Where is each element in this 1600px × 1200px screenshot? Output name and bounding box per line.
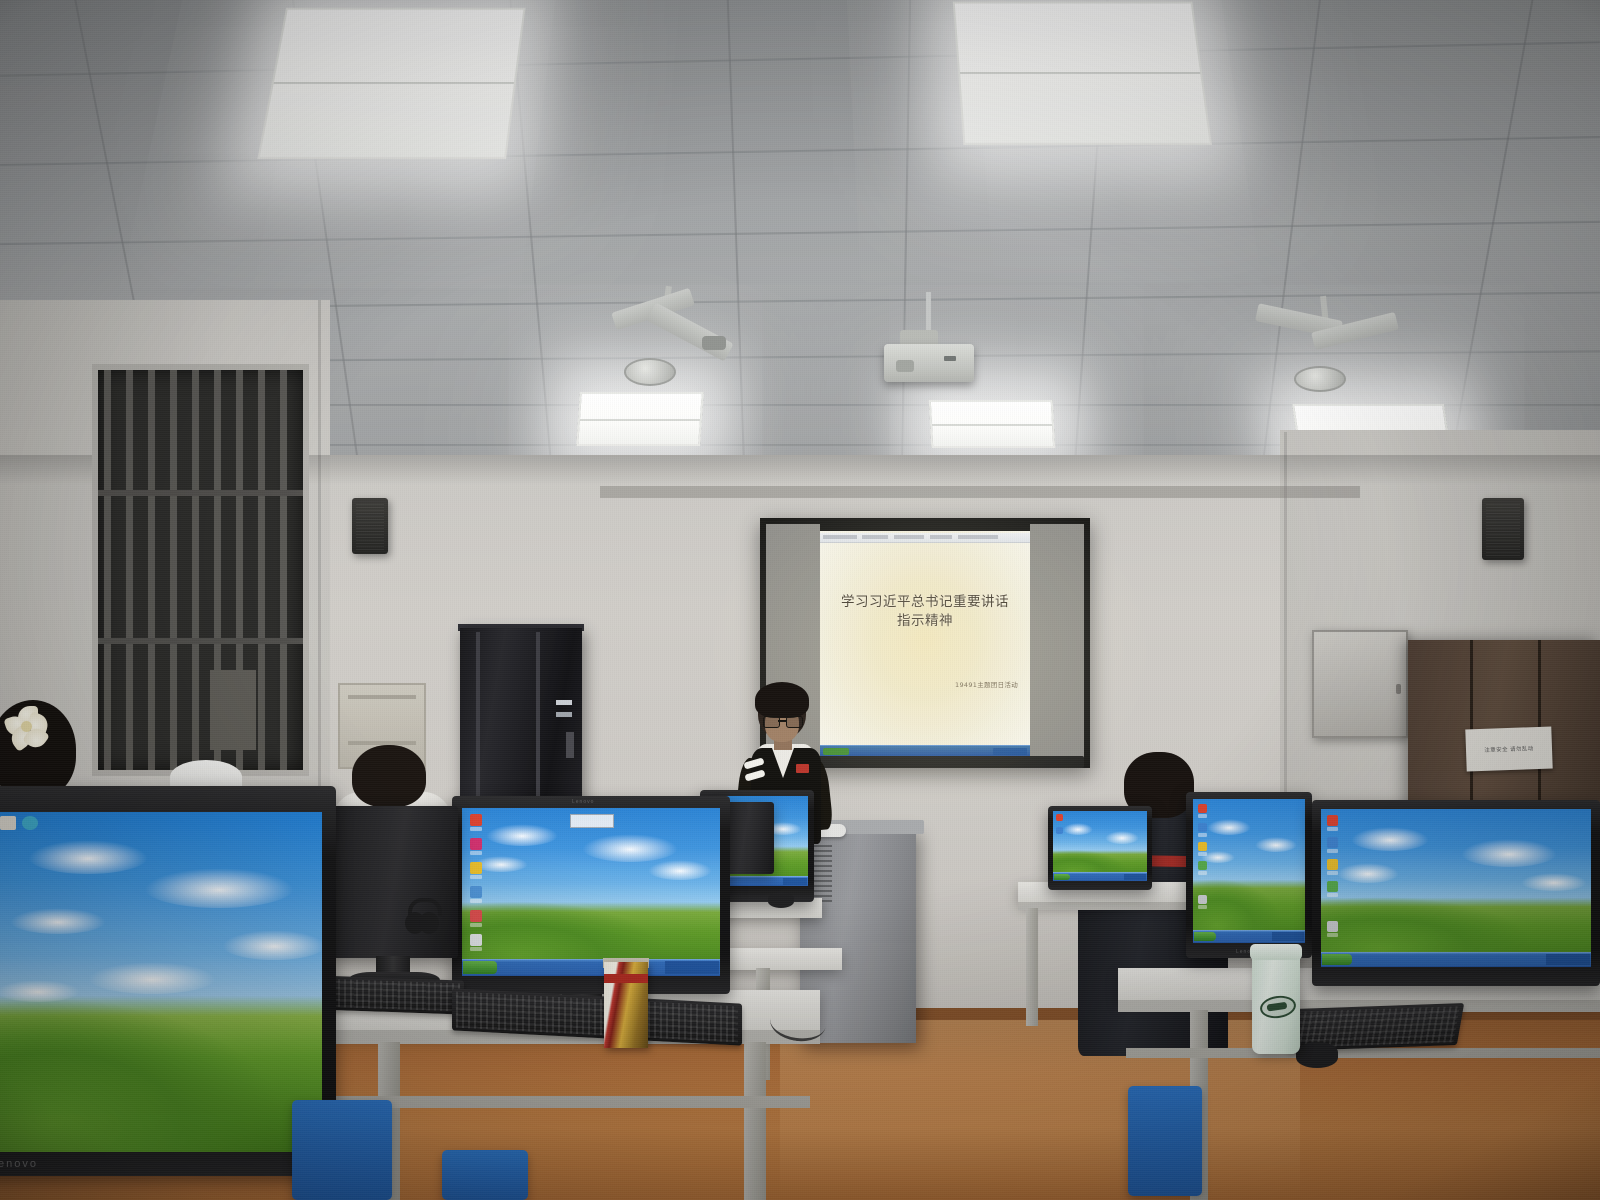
- ceiling-fan-left-blade-2: [646, 303, 733, 362]
- desktop-icon-media: [470, 910, 482, 922]
- headphones[interactable]: [405, 898, 439, 944]
- presenter-hair: [755, 682, 809, 718]
- panel-light-4: [929, 400, 1056, 448]
- desktop-icon-recycle: [470, 814, 482, 826]
- monitor-right-far[interactable]: [1048, 806, 1152, 890]
- monitor-right-near-a[interactable]: Lenovo: [1186, 792, 1312, 958]
- desk-middle-2: [716, 948, 842, 970]
- monitor-right-far-screen[interactable]: [1053, 811, 1147, 881]
- desk-front-left-leg-2: [744, 1042, 766, 1200]
- cabinet-sign: 注意安全 请勿乱动: [1465, 727, 1552, 772]
- monitor-front-center-brand: Lenovo: [572, 799, 594, 805]
- slide-subtitle: 19491主题团日活动: [955, 679, 1018, 689]
- fg-desktop-icon-1: [0, 816, 16, 830]
- ceiling-speaker-small: [702, 336, 726, 350]
- screen-side-right: [1030, 524, 1084, 760]
- ceiling-fan-left-hub: [624, 358, 676, 386]
- chair-foreground-2[interactable]: [442, 1150, 528, 1200]
- window-grille: [98, 370, 303, 770]
- classroom-photo: 注意安全 请勿乱动 学习习近平总书记重要讲话 指示精神 19491主题团日活动: [0, 0, 1600, 1200]
- presenter-glasses: [763, 716, 801, 726]
- projector-indicator: [944, 356, 956, 361]
- keyboard-front-left[interactable]: [316, 975, 464, 1014]
- slide-title-line2: 指示精神: [820, 612, 1030, 631]
- flower-hair-clip: [6, 706, 50, 748]
- mouse-middle[interactable]: [768, 892, 794, 908]
- monitor-foreground-left[interactable]: enovo: [0, 786, 336, 1176]
- monitor-front-center[interactable]: Lenovo: [452, 796, 730, 994]
- cabinet-sign-text: 注意安全 请勿乱动: [1484, 744, 1534, 754]
- slide-start-button[interactable]: [823, 748, 849, 755]
- cabinet-latch[interactable]: [1396, 684, 1401, 694]
- wall-beam: [600, 486, 1360, 498]
- monitor-foreground-brand: enovo: [0, 1158, 38, 1170]
- desktop-dialog[interactable]: [570, 814, 614, 828]
- desk-right-far-leg: [1026, 908, 1038, 1026]
- desktop-icon-doc: [470, 934, 482, 946]
- slide-app-toolbar: [820, 533, 1030, 543]
- metal-wall-cabinet[interactable]: [1312, 630, 1408, 738]
- chair-foreground[interactable]: [292, 1100, 392, 1200]
- desktop-icon-browser: [470, 838, 482, 850]
- monitor-right-near-b[interactable]: [1312, 800, 1600, 986]
- slide-title-line1: 学习习近平总书记重要讲话: [820, 593, 1030, 612]
- presenter-badge: [796, 764, 809, 773]
- desktop-icon-folder: [470, 862, 482, 874]
- window-object: [210, 670, 256, 750]
- presentation-slide: 学习习近平总书记重要讲话 指示精神 19491主题团日活动: [820, 531, 1030, 757]
- projector-lens: [896, 360, 914, 372]
- fg-desktop-icon-2: [22, 816, 38, 830]
- chair-right[interactable]: [1128, 1086, 1202, 1196]
- desktop-icon-app: [470, 886, 482, 898]
- tumbler-lid[interactable]: [1250, 944, 1302, 960]
- monitor-front-center-screen[interactable]: [462, 808, 720, 976]
- wall-speaker-right: [1482, 498, 1524, 560]
- black-server-rack[interactable]: [460, 628, 582, 808]
- mouse-right-near[interactable]: [1296, 1042, 1338, 1068]
- student-grey-head: [352, 745, 426, 807]
- wall-speaker-left: [352, 498, 388, 554]
- ceiling-fan-right-hub: [1294, 366, 1346, 392]
- panel-light-2: [953, 2, 1212, 145]
- wall-corner-left: [318, 300, 321, 860]
- desk-right-near-rail: [1126, 1048, 1600, 1058]
- monitor-right-near-b-screen[interactable]: [1321, 809, 1591, 967]
- monitor-right-near-a-screen[interactable]: [1193, 799, 1305, 943]
- slide-system-tray[interactable]: [993, 748, 1027, 755]
- slide-title: 学习习近平总书记重要讲话 指示精神: [820, 593, 1030, 631]
- carton-band: [604, 974, 648, 983]
- panel-light-3: [576, 392, 704, 446]
- monitor-foreground-left-screen[interactable]: [0, 812, 322, 1152]
- panel-light-1: [257, 8, 525, 159]
